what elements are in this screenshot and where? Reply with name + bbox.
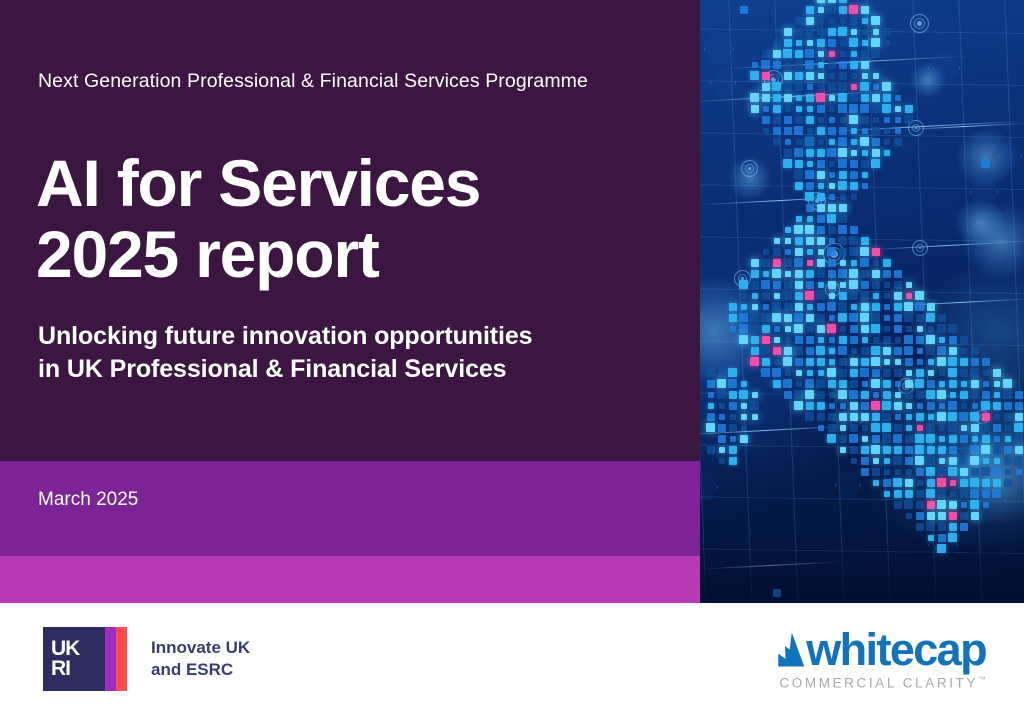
map-pixel [994,381,1000,387]
map-pixel [860,104,869,113]
map-pixel [850,446,858,454]
page-title-line-1: AI for Services [36,148,480,219]
map-pixel [761,346,770,355]
map-pixel [718,369,726,377]
map-pixel [741,293,747,299]
map-pixel [884,293,890,299]
map-pixel [906,326,912,332]
map-pixel [839,6,847,14]
map-pixel [872,270,880,278]
map-pixel [828,28,836,36]
map-pixel [927,380,935,388]
map-pixel [928,359,934,365]
map-pixel [739,335,748,344]
map-pixel [816,93,825,102]
map-pixel [818,370,824,376]
map-pixel [818,249,824,255]
map-pixel [806,6,814,14]
uk-digital-map-graphic [700,0,1024,603]
map-pixel [916,391,924,399]
map-pixel [938,523,946,531]
map-pixel [839,413,847,421]
map-pixel [840,425,846,431]
map-pixel [872,94,880,102]
map-pixel [839,435,847,443]
map-pixel [762,50,770,58]
map-pixel [817,402,825,410]
map-pixel [794,324,803,333]
map-pixel [763,271,769,277]
map-pixel [840,40,846,46]
map-pixel [794,313,803,322]
map-pixel [829,172,835,178]
map-pixel [773,61,781,69]
map-pixel [827,302,836,311]
map-pixel [829,161,835,167]
map-pixel [904,313,913,322]
map-pixel [838,159,847,168]
map-pixel [772,82,781,91]
map-pixel [784,391,792,399]
map-pixel [872,127,880,135]
map-pixel [851,458,857,464]
map-pixel [839,171,847,179]
map-pixel [883,369,891,377]
map-pixel [773,259,781,267]
map-pixel [905,490,913,498]
map-pixel [948,368,957,377]
map-pixel [971,347,979,355]
map-pixel [806,204,814,212]
map-pixel [884,128,890,134]
map-pixel [1015,446,1023,454]
map-pixel [739,280,748,289]
map-pixel [904,500,913,509]
map-pixel [862,436,868,442]
map-pixel [817,358,825,366]
map-pixel [818,183,824,189]
map-pixel [719,447,725,453]
map-pixel [927,512,935,520]
map-pixel [862,128,868,134]
map-pixel [851,73,857,79]
map-pixel [895,381,901,387]
map-pixel [861,358,869,366]
map-pixel [772,269,781,278]
map-pixel [750,357,759,366]
map-pixel [706,423,715,432]
map-pixel [904,115,913,124]
map-pixel [806,17,814,25]
map-pixel [717,390,726,399]
map-pixel [839,336,847,344]
map-pixel [961,403,967,409]
map-pixel [882,82,891,91]
map-pixel [783,159,792,168]
map-pixel [751,105,759,113]
map-pixel [894,369,902,377]
map-pixel [752,392,758,398]
map-pixel [807,40,813,46]
map-pixel [807,106,813,112]
map-pixel [806,347,814,355]
map-pixel [862,183,868,189]
map-pixel [993,479,1001,487]
map-pixel [805,170,814,179]
map-pixel [1015,391,1023,399]
glow-blob [728,156,772,200]
map-pixel [1005,436,1011,442]
map-pixel [905,380,913,388]
map-pixel [762,72,770,80]
map-pixel [915,434,924,443]
map-pixel [960,479,968,487]
map-pixel [1004,457,1012,465]
map-pixel [851,194,857,200]
map-pixel [794,225,803,234]
map-pixel [805,60,814,69]
map-pixel [807,84,813,90]
map-pixel [1003,379,1012,388]
map-pixel [926,390,935,399]
map-pixel [872,248,880,256]
map-pixel [794,390,803,399]
map-pixel [915,379,924,388]
map-pixel [707,413,715,421]
map-pixel [939,436,945,442]
map-pixel [981,423,990,432]
map-pixel [926,434,935,443]
map-pixel [817,204,825,212]
map-pixel [939,370,945,376]
map-pixel [970,489,979,498]
map-pixel [893,478,902,487]
map-pixel [883,336,891,344]
map-pixel [739,324,748,333]
map-pixel [817,127,825,135]
map-pixel [906,293,912,299]
map-pixel [795,281,803,289]
map-pixel [873,293,879,299]
whitecap-logo: whitecap COMMERCIAL CLARITY™ [778,627,986,691]
map-pixel [927,501,935,509]
map-pixel [795,358,803,366]
map-pixel [796,95,802,101]
map-pixel [884,326,890,332]
map-pixel [829,183,835,189]
map-pixel [895,117,901,123]
map-pixel [960,391,968,399]
map-pixel [949,512,957,520]
map-pixel [818,139,824,145]
map-pixel [839,358,847,366]
map-pixel [818,117,824,123]
map-pixel [906,469,912,475]
map-pixel [794,258,803,267]
map-pixel [884,315,890,321]
map-pixel [960,435,968,443]
map-pixel [884,139,890,145]
map-pixel [894,424,902,432]
map-pixel [937,390,946,399]
map-pixel [948,467,957,476]
map-pixel [949,501,957,509]
map-pixel [829,18,835,24]
map-pixel [730,326,736,332]
map-pixel [817,226,825,234]
map-pixel [949,380,957,388]
map-pixel [860,137,869,146]
map-pixel [829,238,835,244]
map-pixel [905,479,913,487]
map-pixel [970,456,979,465]
map-pixel [905,358,913,366]
map-pixel [894,138,902,146]
map-pixel [937,478,946,487]
map-pixel [773,39,781,47]
map-pixel [850,369,858,377]
map-pixel [806,402,814,410]
map-pixel [806,94,814,102]
map-pixel [850,171,858,179]
map-pixel [939,381,945,387]
map-pixel [860,247,869,256]
map-pixel [718,424,726,432]
map-pixel [763,128,769,134]
map-pixel [839,127,847,135]
map-pixel [839,0,847,3]
map-pixel [850,94,858,102]
map-pixel [795,270,803,278]
map-pixel [829,95,835,101]
map-pixel [762,336,770,344]
map-pixel [796,370,802,376]
map-pixel [838,302,847,311]
map-pixel [741,425,747,431]
map-pixel [849,5,858,14]
map-pixel [851,84,857,90]
map-pixel [861,50,869,58]
map-pixel [838,269,847,278]
map-pixel [838,82,847,91]
map-pixel [905,446,913,454]
map-pixel [927,446,935,454]
map-pixel [871,38,880,47]
map-pixel [937,346,946,355]
map-pixel [949,336,957,344]
map-pixel [904,335,913,344]
map-pixel [796,40,802,46]
map-pixel [862,172,868,178]
map-pixel [783,291,792,300]
map-pixel [763,304,769,310]
map-pixel [795,61,803,69]
map-pixel [750,93,759,102]
map-pixel [983,381,989,387]
map-pixel [817,303,825,311]
map-pixel [861,237,869,245]
map-pixel [981,467,990,476]
map-pixel [871,445,880,454]
map-pixel [762,259,770,267]
map-pixel [707,446,715,454]
map-pixel [894,501,902,509]
map-pixel [871,423,880,432]
map-pixel [884,491,890,497]
map-pixel [729,314,737,322]
map-pixel [862,29,868,35]
map-pixel [861,160,869,168]
map-pixel [871,49,880,58]
map-pixel [862,425,868,431]
map-pixel [807,161,813,167]
map-pixel [838,148,847,157]
map-pixel [839,292,847,300]
map-pixel [872,413,880,421]
map-pixel [795,248,803,256]
map-pixel [850,380,858,388]
ukri-square-icon: UK RI [43,627,105,691]
map-pixel [960,336,968,344]
map-pixel [971,512,979,520]
ukri-logo: UK RI Innovate UK and ESRC [43,627,250,691]
map-pixel [917,348,923,354]
map-pixel [840,326,846,332]
map-pixel [926,335,935,344]
map-pixel [884,150,890,156]
map-pixel [817,105,825,113]
map-pixel [773,127,781,135]
map-pixel [850,336,858,344]
map-pixel [761,368,770,377]
map-pixel [773,50,781,58]
map-pixel [982,490,990,498]
map-pixel [783,258,792,267]
report-cover: Next Generation Professional & Financial… [0,0,1024,723]
map-pixel [883,446,891,454]
map-pixel [871,401,880,410]
map-pixel [785,238,791,244]
map-pixel [762,325,770,333]
map-pixel [960,523,968,531]
map-pixel [939,425,945,431]
map-pixel [828,259,836,267]
map-pixel [805,225,814,234]
map-pixel [862,73,868,79]
map-pixel [751,259,759,267]
map-pixel [1015,402,1023,410]
map-pixel [1014,423,1023,432]
map-pixel [750,401,759,410]
map-pixel [838,236,847,245]
map-pixel [917,359,923,365]
map-pixel [719,458,725,464]
map-pixel [938,512,946,520]
map-pixel [828,127,836,135]
map-pixel [784,72,792,80]
map-pixel [939,337,945,343]
map-pixel [773,138,781,146]
map-pixel [729,424,737,432]
map-pixel [873,73,879,79]
map-pixel [895,392,901,398]
ukri-lettermark: UK RI [51,635,97,683]
map-pixel [938,446,946,454]
map-pixel [818,84,824,90]
map-pixel [915,456,924,465]
map-pixel [795,17,803,25]
map-pixel [916,369,924,377]
map-pixel [773,94,781,102]
map-pixel [717,379,726,388]
map-pixel [851,139,857,145]
map-pixel [916,336,924,344]
map-pixel [882,401,891,410]
date-band: March 2025 [0,461,700,556]
map-pixel [761,313,770,322]
map-pixel [730,414,736,420]
map-pixel [861,325,869,333]
map-pixel [949,347,957,355]
ukri-logo-mark: UK RI [43,627,127,691]
map-pixel [992,489,1001,498]
map-pixel [784,28,792,36]
map-pixel [926,456,935,465]
map-pixel [785,326,791,332]
map-pixel [971,358,979,366]
map-pixel [828,204,836,212]
map-pixel [750,313,759,322]
map-pixel [882,423,891,432]
map-pixel [894,292,902,300]
map-pixel [840,117,846,123]
map-pixel [751,281,759,289]
map-pixel [840,447,846,453]
map-pixel [872,435,880,443]
map-pixel [860,258,869,267]
map-pixel [751,347,759,355]
map-pixel [862,381,868,387]
map-pixel [818,51,824,57]
map-pixel [818,282,824,288]
map-pixel [928,326,934,332]
map-pixel [873,260,879,266]
map-pixel [806,72,814,80]
map-pixel [840,282,846,288]
map-pixel [829,139,835,145]
map-pixel [861,391,869,399]
map-pixel [972,403,978,409]
map-pixel [728,379,737,388]
map-pixel [838,346,847,355]
ukri-lettermark-line-2: RI [51,659,97,679]
map-pixel [795,182,803,190]
map-pixel [785,106,791,112]
map-pixel [871,346,880,355]
map-pixel [949,435,957,443]
map-pixel [871,16,880,25]
map-pixel [871,324,880,333]
map-pixel [895,469,901,475]
map-pixel [872,369,880,377]
map-pixel [784,314,792,322]
map-pixel [763,106,769,112]
map-pixel [741,414,747,420]
map-pixel [729,391,737,399]
map-pixel [961,447,967,453]
map-pixel [982,413,990,421]
map-pixel [840,18,846,24]
